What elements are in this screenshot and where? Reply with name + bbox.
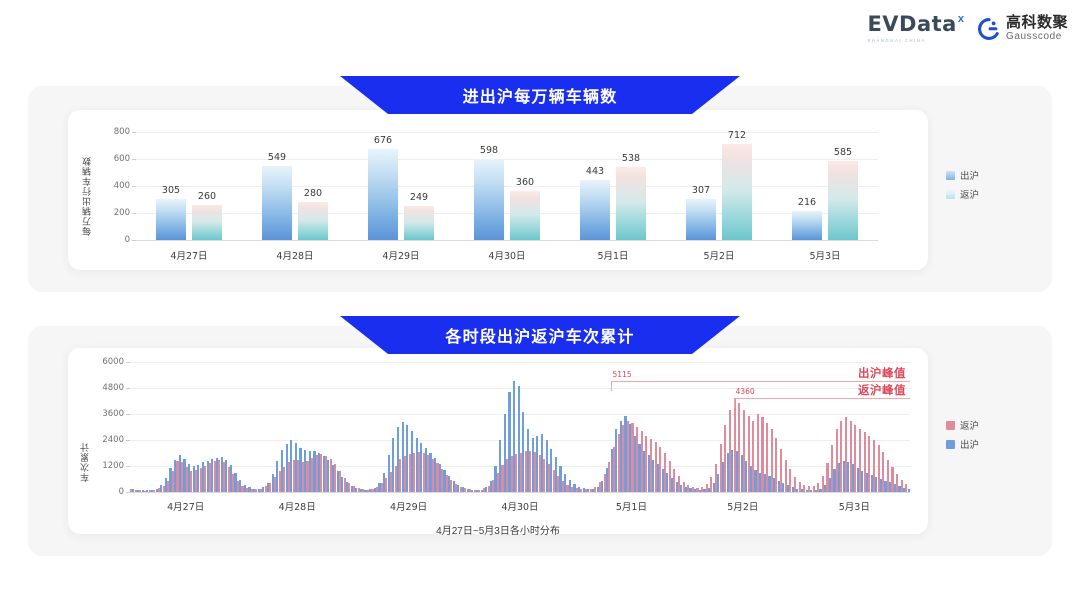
bar-value-label: 712 xyxy=(728,130,746,141)
y-tick-mark xyxy=(132,213,136,214)
bar-返沪-4月28日 xyxy=(298,202,328,240)
bar-出沪-4月30日 xyxy=(474,159,504,240)
y-tick-mark xyxy=(132,159,136,160)
y-tick-label: 0 xyxy=(125,235,130,245)
bar-返沪-5月1日 xyxy=(616,167,646,240)
x-axis-label: 4月30日 xyxy=(488,248,525,262)
y-tick-label: 3600 xyxy=(102,409,124,419)
bar-返沪-5月3日 xyxy=(828,161,858,240)
legend-item-返沪[interactable]: 返沪 xyxy=(946,187,979,201)
bar-value-label: 305 xyxy=(162,185,180,196)
chart-legend-hourly: 返沪出沪 xyxy=(946,418,979,451)
y-gridline xyxy=(130,388,910,389)
y-tick-mark xyxy=(126,492,130,493)
bar-出沪-5月2日 xyxy=(686,199,716,240)
y-tick-label: 2400 xyxy=(102,435,124,445)
bar-hourly-out xyxy=(908,489,910,492)
gausscode-logo-text: 高科数聚 Gausscode xyxy=(1006,15,1068,42)
gausscode-name-cn: 高科数聚 xyxy=(1006,15,1068,30)
y-tick-label: 200 xyxy=(114,208,130,218)
legend-swatch xyxy=(946,190,955,199)
bar-出沪-4月29日 xyxy=(368,149,398,240)
bar-value-label: 216 xyxy=(798,197,816,208)
bar-value-label: 249 xyxy=(410,192,428,203)
legend-item-出沪[interactable]: 出沪 xyxy=(946,437,979,451)
legend-label: 返沪 xyxy=(960,418,979,432)
page-header: EVData x SHANGHAI CHINA 高科数聚 Gausscode xyxy=(0,0,1080,62)
evdata-logo-row: EVData x xyxy=(867,14,964,35)
evdata-logo-tagline: SHANGHAI CHINA xyxy=(867,38,925,43)
legend-item-返沪[interactable]: 返沪 xyxy=(946,418,979,432)
bar-value-label: 598 xyxy=(480,145,498,156)
y-gridline xyxy=(136,186,878,187)
x-axis-label: 4月29日 xyxy=(382,248,419,262)
chart-panel-vehicles: 02004006008003052604月27日5492804月28日67624… xyxy=(28,86,1052,292)
legend-label: 出沪 xyxy=(960,437,979,451)
plot-area-vehicles: 02004006008003052604月27日5492804月28日67624… xyxy=(136,132,878,240)
chart-panel-hourly: 0120024003600480060004月27日4月28日4月29日4月30… xyxy=(28,326,1052,556)
annotation-name-返沪峰值: 返沪峰值 xyxy=(858,382,906,398)
evdata-logo-wordmark: EVData xyxy=(867,14,956,35)
y-tick-label: 0 xyxy=(119,487,124,497)
legend-item-出沪[interactable]: 出沪 xyxy=(946,168,979,182)
annotation-name-出沪峰值: 出沪峰值 xyxy=(858,365,906,381)
x-axis-label: 4月30日 xyxy=(501,499,538,513)
y-tick-mark xyxy=(126,466,130,467)
bar-出沪-4月27日 xyxy=(156,199,186,240)
x-axis-label: 5月2日 xyxy=(727,499,758,513)
y-tick-mark xyxy=(132,186,136,187)
bar-value-label: 676 xyxy=(374,135,392,146)
y-tick-mark xyxy=(126,440,130,441)
y-tick-mark xyxy=(132,240,136,241)
legend-swatch xyxy=(946,421,955,430)
bar-value-label: 538 xyxy=(622,153,640,164)
x-axis-label: 4月27日 xyxy=(167,499,204,513)
chart-title-hourly: 各时段出沪返沪车次累计 xyxy=(445,323,634,347)
y-gridline xyxy=(136,240,878,241)
gausscode-mark-icon xyxy=(978,18,1000,40)
x-axis-label: 4月27日 xyxy=(170,248,207,262)
logo-group: EVData x SHANGHAI CHINA 高科数聚 Gausscode xyxy=(867,14,1068,43)
page-root: EVData x SHANGHAI CHINA 高科数聚 Gausscode xyxy=(0,0,1080,608)
evdata-logo: EVData x SHANGHAI CHINA xyxy=(867,14,964,43)
y-tick-mark xyxy=(126,388,130,389)
bar-出沪-5月3日 xyxy=(792,211,822,240)
bar-value-label: 549 xyxy=(268,152,286,163)
bar-出沪-5月1日 xyxy=(580,180,610,240)
chart-card-vehicles: 02004006008003052604月27日5492804月28日67624… xyxy=(68,110,928,270)
legend-swatch xyxy=(946,440,955,449)
y-axis-title-vehicles: 每万辆出行车辆数 xyxy=(80,138,93,236)
y-tick-label: 1200 xyxy=(102,461,124,471)
x-axis-label: 5月1日 xyxy=(597,248,628,262)
annotation-value-出沪峰值: 5115 xyxy=(613,370,632,379)
bar-返沪-5月2日 xyxy=(722,144,752,240)
legend-label: 出沪 xyxy=(960,168,979,182)
x-axis-title-hourly: 4月27日~5月3日各小时分布 xyxy=(436,522,560,537)
bar-value-label: 585 xyxy=(834,147,852,158)
y-tick-label: 400 xyxy=(114,181,130,191)
legend-label: 返沪 xyxy=(960,187,979,201)
bar-返沪-4月30日 xyxy=(510,191,540,240)
y-gridline xyxy=(130,414,910,415)
x-axis-label: 5月3日 xyxy=(839,499,870,513)
y-gridline xyxy=(136,213,878,214)
plot-area-hourly: 0120024003600480060004月27日4月28日4月29日4月30… xyxy=(130,362,910,492)
annotation-tick-出沪峰值 xyxy=(611,381,612,391)
annotation-line-返沪峰值 xyxy=(734,398,910,399)
y-gridline xyxy=(136,159,878,160)
y-tick-mark xyxy=(126,414,130,415)
chart-card-hourly: 0120024003600480060004月27日4月28日4月29日4月30… xyxy=(68,348,928,534)
y-gridline xyxy=(130,440,910,441)
x-axis-label: 4月28日 xyxy=(276,248,313,262)
x-axis-label: 4月28日 xyxy=(279,499,316,513)
chart-title-ribbon-hourly: 各时段出沪返沪车次累计 xyxy=(340,316,740,354)
x-axis-label: 5月2日 xyxy=(703,248,734,262)
bar-value-label: 280 xyxy=(304,188,322,199)
annotation-tick-返沪峰值 xyxy=(734,398,735,408)
evdata-logo-superscript: x xyxy=(958,13,964,25)
x-axis-label: 5月3日 xyxy=(809,248,840,262)
bar-value-label: 307 xyxy=(692,185,710,196)
bar-返沪-4月29日 xyxy=(404,206,434,240)
chart-title-ribbon-vehicles: 进出沪每万辆车辆数 xyxy=(340,76,740,114)
y-tick-label: 600 xyxy=(114,154,130,164)
gausscode-logo: 高科数聚 Gausscode xyxy=(978,15,1068,42)
bar-出沪-4月28日 xyxy=(262,166,292,240)
chart-legend-vehicles: 出沪返沪 xyxy=(946,168,979,201)
x-axis-label: 4月29日 xyxy=(390,499,427,513)
bar-value-label: 360 xyxy=(516,177,534,188)
bar-返沪-4月27日 xyxy=(192,205,222,240)
y-tick-label: 6000 xyxy=(102,357,124,367)
y-tick-label: 4800 xyxy=(102,383,124,393)
y-gridline xyxy=(130,362,910,363)
annotation-value-返沪峰值: 4360 xyxy=(736,387,755,396)
gausscode-name-en: Gausscode xyxy=(1006,32,1068,42)
x-axis-label: 5月1日 xyxy=(616,499,647,513)
bar-value-label: 260 xyxy=(198,191,216,202)
y-axis-title-hourly: 车次累计 xyxy=(78,372,91,482)
bar-value-label: 443 xyxy=(586,166,604,177)
y-gridline xyxy=(130,492,910,493)
y-gridline xyxy=(136,132,878,133)
y-tick-label: 800 xyxy=(114,127,130,137)
y-tick-mark xyxy=(132,132,136,133)
legend-swatch xyxy=(946,171,955,180)
chart-title-vehicles: 进出沪每万辆车辆数 xyxy=(463,83,618,107)
y-tick-mark xyxy=(126,362,130,363)
